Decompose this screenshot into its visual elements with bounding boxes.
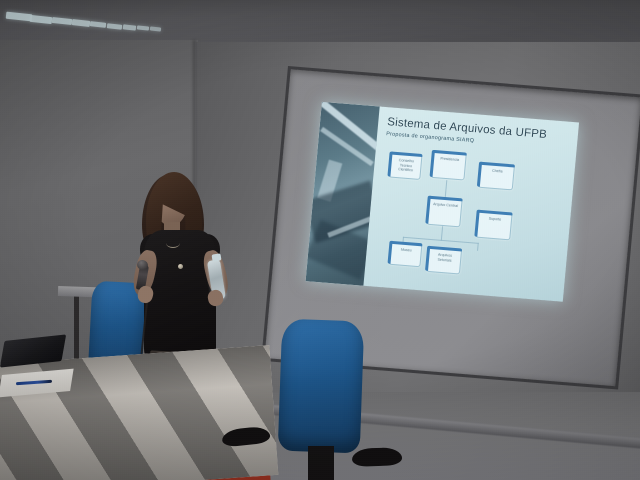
- org-connector-vertical-2: [441, 225, 443, 241]
- chair-armrest-right[interactable]: [352, 447, 403, 467]
- org-box-label: Chefia: [482, 168, 511, 187]
- presenter-torso: [144, 230, 216, 362]
- org-box-presidencia: Presidencia: [430, 151, 466, 181]
- org-box-conselho: Conselho Tecnico Cientifico: [388, 153, 422, 180]
- slide-body: Sistema de Arquivos da UFPB Proposta de …: [363, 106, 579, 301]
- org-box-label: Suporte: [479, 216, 509, 237]
- org-box-label: Arquivos Setoriais: [430, 252, 458, 271]
- necklace: [166, 238, 180, 248]
- org-connector-vertical-1: [445, 180, 448, 198]
- org-box-label: Museu: [393, 247, 419, 264]
- photo-scene: Sistema de Arquivos da UFPB Proposta de …: [0, 0, 640, 480]
- org-box-label: Conselho Tecnico Cientifico: [393, 158, 419, 177]
- back-table-leg-left: [74, 296, 79, 368]
- org-connector-vertical-4: [477, 243, 479, 251]
- chair-backrest: [278, 319, 365, 454]
- chair-post: [308, 446, 334, 480]
- org-box-suporte: Suporte: [475, 211, 512, 241]
- org-box-museu: Museu: [388, 242, 422, 267]
- office-chair-front[interactable]: [222, 320, 402, 480]
- org-box-arquivo-central: Arquivo Central: [426, 197, 462, 228]
- projected-slide: Sistema de Arquivos da UFPB Proposta de …: [306, 102, 579, 302]
- chair-armrest-left[interactable]: [221, 426, 271, 448]
- brooch: [178, 264, 183, 269]
- org-box-label: Arquivo Central: [430, 202, 459, 224]
- org-chart: Conselho Tecnico Cientifico Presidencia …: [374, 146, 566, 278]
- org-box-chefia: Chefia: [478, 163, 515, 191]
- water-bottle-cap: [212, 253, 222, 261]
- org-box-arquivos-setoriais: Arquivos Setoriais: [426, 247, 462, 275]
- org-box-label: Presidencia: [435, 156, 464, 177]
